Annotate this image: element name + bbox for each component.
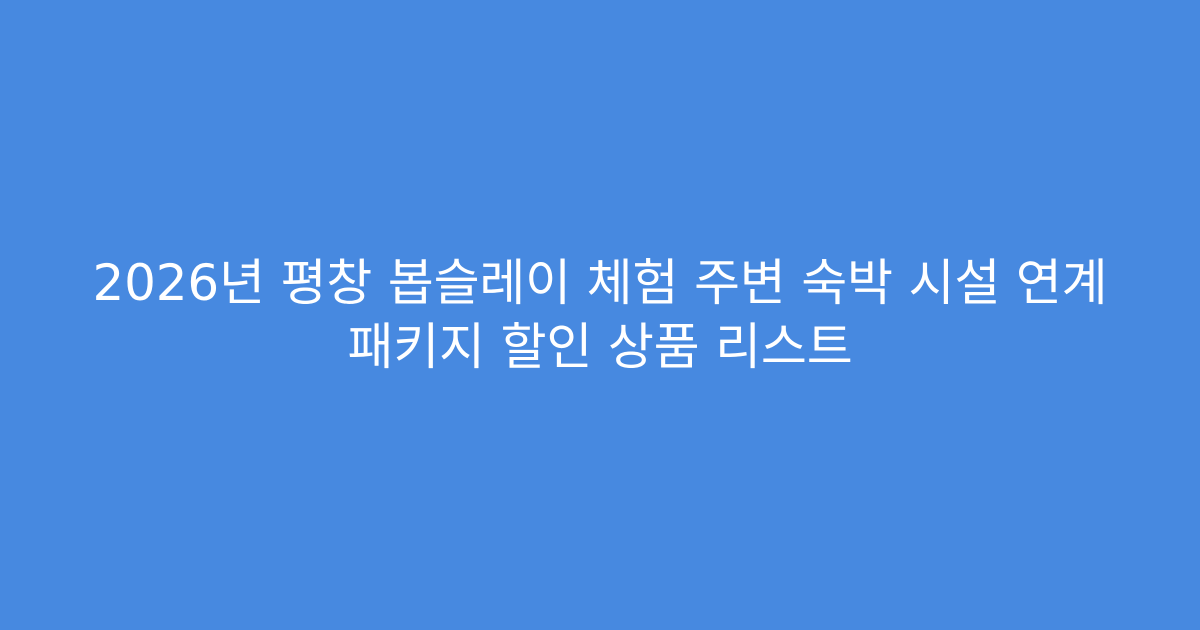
social-card-canvas: 2026년 평창 봅슬레이 체험 주변 숙박 시설 연계 패키지 할인 상품 리… xyxy=(0,0,1200,630)
page-title: 2026년 평창 봅슬레이 체험 주변 숙박 시설 연계 패키지 할인 상품 리… xyxy=(90,251,1110,379)
headline-block: 2026년 평창 봅슬레이 체험 주변 숙박 시설 연계 패키지 할인 상품 리… xyxy=(70,251,1130,379)
